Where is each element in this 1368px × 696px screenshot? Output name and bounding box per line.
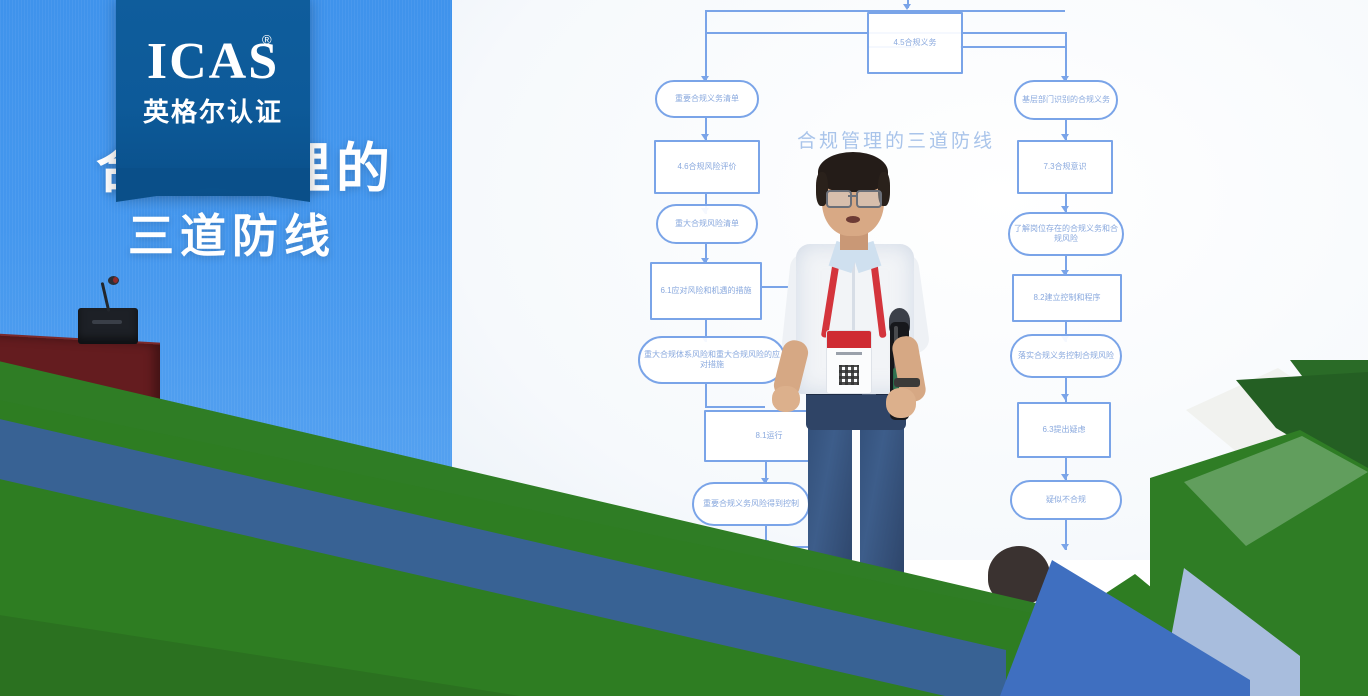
qr-code-icon	[839, 365, 859, 385]
flow-node-4-5: 4.5合规义务	[867, 12, 963, 74]
flow-node-7-3: 7.3合规意识	[1017, 140, 1113, 194]
icas-wordmark: ICAS	[116, 36, 310, 88]
connector-arrow	[903, 4, 911, 10]
id-badge-name-line	[836, 352, 862, 355]
wristwatch	[894, 378, 920, 387]
presenter-mouth	[846, 216, 860, 223]
connector	[705, 10, 707, 32]
flow-node-implement-control: 落实合规义务控制合规风险	[1010, 334, 1122, 378]
flow-node-dept-obligations: 基层部门识别的合规义务	[1014, 80, 1118, 120]
flow-node-position-awareness: 了解岗位存在的合规义务和合规风险	[1008, 212, 1124, 256]
icas-chinese-name: 英格尔认证	[116, 92, 310, 129]
connector	[705, 406, 765, 408]
flow-node-suspected-noncompliance: 疑似不合规	[1010, 480, 1122, 520]
connector	[960, 46, 1066, 48]
flow-node-8-2: 8.2建立控制和程序	[1012, 274, 1122, 322]
lectern-control-box	[78, 308, 138, 344]
flow-node-6-1: 6.1应对风险和机遇的措施	[650, 262, 762, 320]
flow-node-4-6: 4.6合规风险评价	[654, 140, 760, 194]
connector-arrow	[1061, 394, 1069, 400]
flow-node-major-response: 重大合规体系风险和重大合规风险的应对措施	[638, 336, 786, 384]
eyeglasses-bridge	[848, 195, 856, 197]
eyeglasses-lens-right	[856, 190, 882, 208]
led-title-line-2: 三道防线	[128, 200, 336, 266]
presenter-hand-right	[886, 388, 916, 418]
icas-logo-banner: ICAS ® 英格尔认证	[116, 0, 310, 196]
lectern-panel-strip	[92, 320, 122, 324]
flow-node-important-obligations: 重要合规义务清单	[655, 80, 759, 118]
id-badge	[826, 330, 872, 394]
presenter-hand-left	[772, 386, 800, 412]
registered-trademark-icon: ®	[262, 32, 272, 47]
flow-node-major-risk-list: 重大合规风险清单	[656, 204, 758, 244]
screenshot-root: 合规管理的 三道防线 合规管理的三道防线 4.5合规义务	[0, 0, 1368, 696]
connector	[1065, 32, 1067, 80]
connector	[705, 32, 707, 80]
id-badge-header	[827, 331, 871, 348]
connector-arrow	[1061, 544, 1069, 550]
eyeglasses-lens-left	[826, 190, 852, 208]
flow-node-6-3: 6.3提出疑虑	[1017, 402, 1111, 458]
connector	[705, 384, 707, 406]
slide-heading: 合规管理的三道防线	[797, 126, 995, 153]
microphone-indicator-light	[113, 277, 118, 283]
